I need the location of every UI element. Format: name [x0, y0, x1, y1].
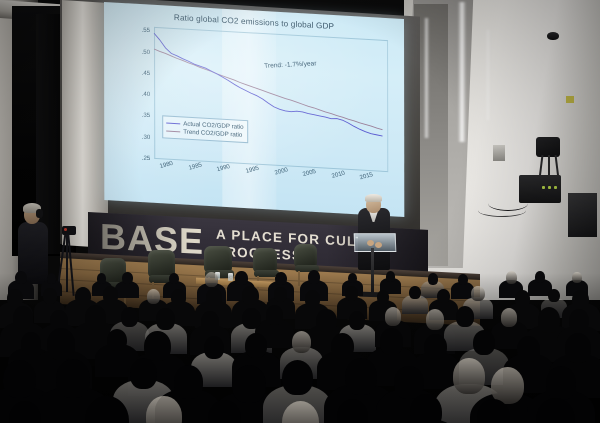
audience-member-head	[471, 286, 485, 301]
audience-member-head	[538, 307, 560, 332]
conference-photo-scene: Ratio global CO2 emissions to global GDP…	[0, 0, 600, 423]
audience-member-head	[97, 273, 106, 283]
x-axis-tick-label: 2005	[302, 168, 317, 178]
x-axis-tick-label: 1985	[188, 161, 203, 171]
audience-member-head	[201, 311, 219, 331]
presenter-hand	[367, 240, 374, 246]
audience-member-head	[331, 333, 354, 359]
audience-member-head	[377, 290, 389, 304]
y-axis-tick-label: .45	[142, 69, 150, 76]
x-axis-tick-label: 1995	[245, 165, 260, 175]
audience-member-head	[144, 331, 170, 361]
wall-light-strip	[424, 18, 429, 138]
x-axis-tick-label: 1990	[216, 163, 231, 173]
audience-member-head	[274, 287, 287, 302]
audience-member-head	[572, 290, 589, 309]
y-axis-tick-label: .25	[142, 155, 150, 162]
audience-member-head	[50, 310, 68, 330]
audience-member-head	[147, 289, 160, 304]
av-indicator-led	[554, 186, 557, 189]
headphones-icon	[36, 209, 43, 218]
water-glass	[228, 273, 233, 281]
audience-member-head	[122, 272, 133, 284]
audience-member-head	[456, 306, 474, 327]
wall-sign	[566, 96, 574, 103]
legend-swatch-trend-icon	[166, 130, 180, 132]
projected-slide: Ratio global CO2 emissions to global GDP…	[104, 2, 404, 217]
wall-equipment-panel	[568, 193, 597, 237]
audience-member-head	[292, 331, 311, 353]
audience-member-head	[386, 271, 395, 281]
microphone-stand	[371, 248, 374, 296]
y-axis-tick-label: .35	[142, 112, 150, 119]
audience-member-head	[56, 359, 90, 398]
audience-member-head	[506, 271, 517, 283]
audience-member-head	[242, 286, 259, 305]
audience-member-head	[15, 271, 27, 284]
y-axis-labels: .55.50.45.40.35.30.25	[132, 26, 152, 159]
audience-member-head	[453, 358, 484, 394]
audience-member-head	[130, 358, 157, 389]
audience-member-head	[428, 273, 438, 284]
audience-member-head	[107, 329, 127, 352]
audience-member-head	[316, 309, 336, 332]
audience-member-head	[121, 307, 139, 327]
audience-member-head	[275, 272, 287, 285]
audience-member-head	[385, 307, 401, 325]
dome-security-camera	[547, 32, 559, 40]
audience-member-head	[569, 309, 589, 332]
audience-member-head	[245, 333, 267, 358]
audience-member-head	[501, 308, 517, 327]
audience-member-head	[410, 394, 442, 423]
audience-member-head	[437, 289, 450, 303]
x-axis-tick-label: 2015	[359, 171, 374, 181]
audience-member-head	[548, 289, 560, 303]
wall-light-strip	[486, 30, 490, 120]
audience-member-head	[345, 286, 358, 301]
audience-member-head	[424, 334, 446, 359]
audience-member-head	[305, 290, 321, 308]
screen-left-border	[62, 0, 108, 248]
audience-member-head	[171, 289, 186, 306]
audience-member-head	[7, 289, 23, 307]
audience-member-head	[85, 305, 107, 330]
audience-member-head	[204, 336, 225, 360]
wall-light-strip	[458, 2, 466, 142]
audience-member-head	[380, 328, 403, 355]
electrical-box	[493, 145, 505, 161]
av-indicator-led	[548, 186, 551, 189]
audience-member-head	[349, 311, 366, 330]
audience-member-head	[266, 305, 283, 325]
power-cable	[478, 204, 526, 217]
chart-legend: Actual CO2/GDP ratio Trend CO2/GDP ratio	[162, 115, 248, 143]
audience-member-head	[3, 360, 36, 398]
audience-member-head	[517, 336, 540, 362]
x-axis-tick-label: 2000	[273, 166, 288, 176]
audience-member-head	[345, 358, 377, 395]
av-indicator-led	[542, 186, 545, 189]
x-axis-tick-label: 1980	[159, 160, 174, 170]
audience-member-head	[235, 271, 247, 285]
legend-swatch-actual-icon	[166, 122, 180, 124]
audience-member-head	[426, 309, 444, 330]
y-axis-tick-label: .50	[142, 48, 150, 55]
audience-member-head	[206, 288, 222, 307]
audience-member-head	[43, 288, 57, 304]
presenter-hand	[375, 242, 382, 248]
audience-member-head	[458, 274, 468, 285]
audience-member-head	[103, 286, 118, 304]
audience-member-head	[308, 270, 320, 284]
audience-member-head	[13, 306, 34, 329]
presenter-hair	[365, 194, 382, 202]
camera-record-led	[64, 228, 67, 231]
audience-member-head	[21, 332, 41, 355]
audience-member-head	[535, 271, 545, 283]
audience-member-head	[473, 330, 495, 355]
audience-member-head	[156, 308, 175, 329]
y-axis-tick-label: .40	[142, 91, 150, 98]
audience-member-head	[47, 273, 57, 284]
y-axis-tick-label: .30	[142, 133, 150, 140]
chart-lines	[154, 27, 388, 172]
tripod-leg	[66, 234, 68, 292]
audience-member-head	[515, 290, 531, 308]
audience-member-head	[565, 333, 591, 363]
audience-member-head	[232, 365, 266, 403]
audience-member-head	[205, 272, 218, 287]
audience-member-head	[174, 365, 203, 398]
audience-member-head	[282, 360, 313, 395]
audience-member-head	[75, 287, 91, 305]
ceiling-loudspeaker	[536, 137, 560, 157]
audience-member-head	[47, 328, 75, 360]
audience-member-head	[242, 308, 260, 329]
audience-member-head	[409, 286, 421, 299]
audience-member-head	[477, 399, 510, 423]
audience-member-head	[572, 272, 582, 283]
x-axis-tick-label: 2010	[330, 169, 345, 179]
audience-member-head	[546, 366, 576, 401]
y-axis-tick-label: .55	[142, 27, 150, 34]
